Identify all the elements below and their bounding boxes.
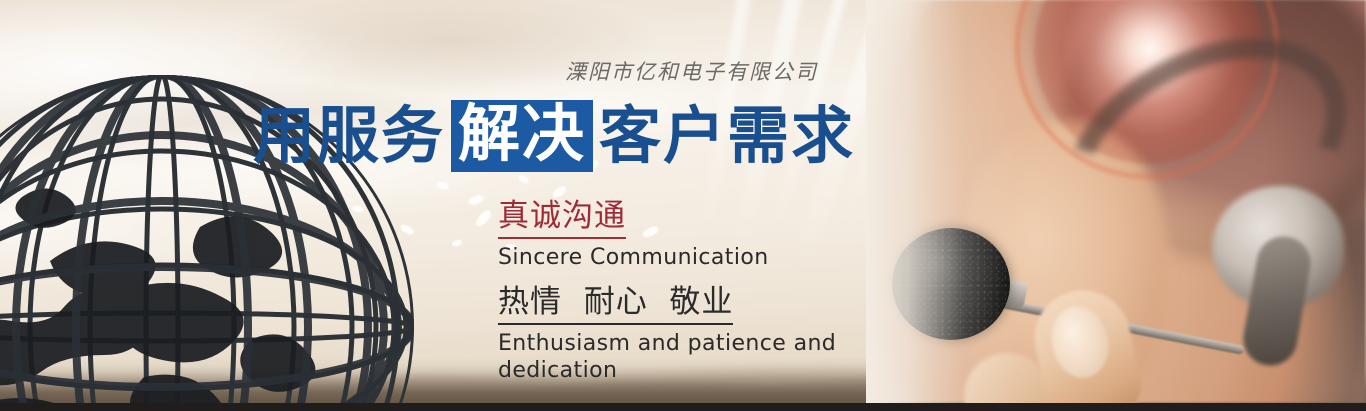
company-name: 溧阳市亿和电子有限公司 xyxy=(565,56,818,86)
bottom-bar xyxy=(0,403,1366,411)
headline-highlight: 解决 xyxy=(451,100,593,172)
hero-banner: 溧阳市亿和电子有限公司 用服务 解决 客户需求 真诚沟通 Sincere Com… xyxy=(0,0,1366,411)
slogan-cn-1: 真诚沟通 xyxy=(498,196,626,239)
headline-prefix: 用服务 xyxy=(253,101,445,171)
headline: 用服务 解决 客户需求 xyxy=(253,100,855,172)
slogan-cn-2: 热情 耐心 敬业 xyxy=(498,282,733,325)
headset-operator-photo xyxy=(866,0,1366,403)
slogan-block: 真诚沟通 Sincere Communication 热情 耐心 敬业 Enth… xyxy=(498,196,898,384)
slogan-en-1: Sincere Communication xyxy=(498,244,898,271)
headline-suffix: 客户需求 xyxy=(599,101,855,171)
slogan-row-1: 真诚沟通 Sincere Communication xyxy=(498,196,898,271)
slogan-row-2: 热情 耐心 敬业 Enthusiasm and patience and ded… xyxy=(498,282,898,384)
banner-text-content: 溧阳市亿和电子有限公司 用服务 解决 客户需求 真诚沟通 Sincere Com… xyxy=(0,0,900,403)
slogan-en-2: Enthusiasm and patience and dedication xyxy=(498,330,898,384)
